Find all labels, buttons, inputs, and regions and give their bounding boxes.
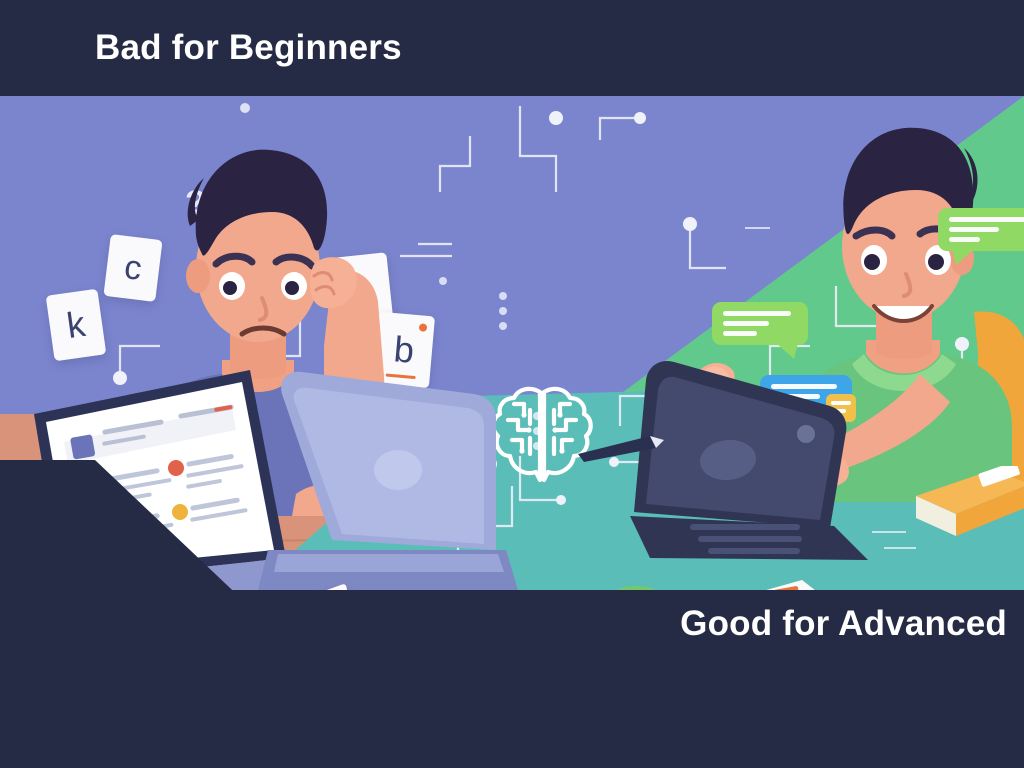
bubble-line <box>949 237 980 242</box>
left-laptop-back <box>258 354 518 590</box>
flashcard-b-dot <box>419 323 428 332</box>
page-title-good-for-advanced: Good for Advanced <box>680 604 1007 644</box>
bubble-line <box>723 321 769 326</box>
bubble-tail <box>952 249 974 265</box>
bubble-line <box>949 227 999 232</box>
illustration-scene: ? k c A b <box>0 96 1024 590</box>
page-title-bad-for-beginners: Bad for Beginners <box>95 28 402 68</box>
bubble-line <box>723 311 791 316</box>
stylus-pen <box>574 432 666 464</box>
bubble-line <box>949 217 1024 222</box>
desk-card-orange <box>750 578 822 590</box>
chat-bubble-green-top <box>938 208 1024 251</box>
comparison-infographic: ? k c A b <box>0 0 1024 768</box>
right-book <box>910 466 1024 550</box>
left-book-stack <box>0 472 170 590</box>
